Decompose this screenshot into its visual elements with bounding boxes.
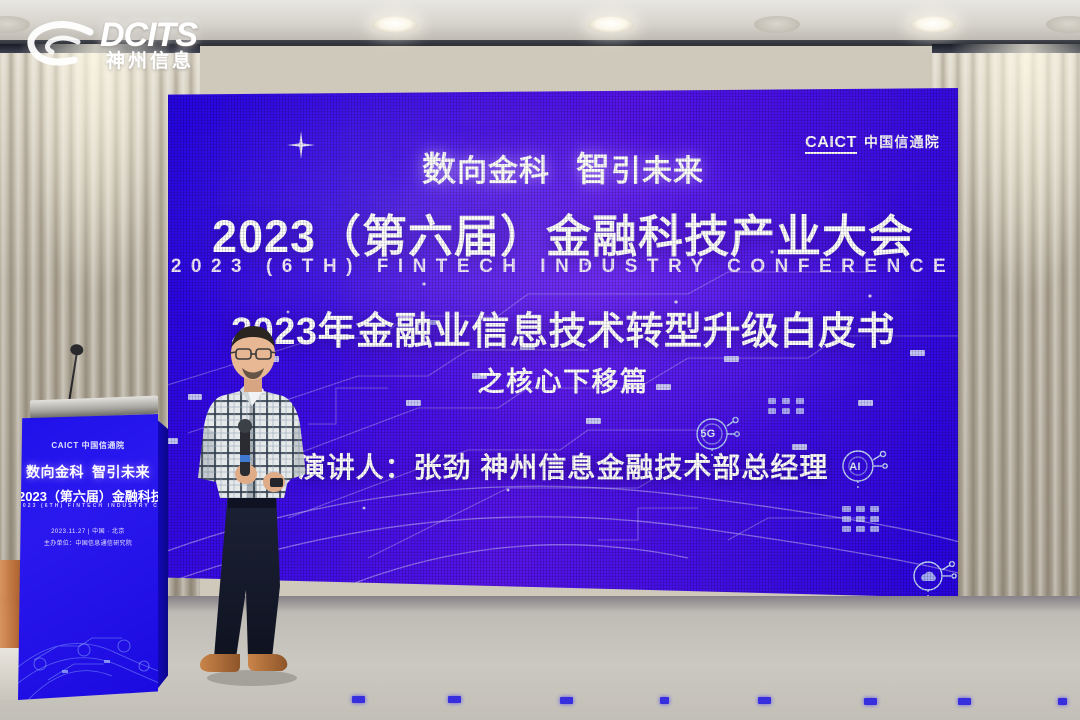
lectern-front-panel: CAICT 中国信通院 数向金科智引未来 2023（第六届）金融科技产业大会 2… xyxy=(18,414,158,700)
tagline-rest-1: 向金科 xyxy=(457,155,550,188)
floor-marker xyxy=(448,696,461,703)
ceiling-downlight xyxy=(372,16,418,33)
lectern-host-line: 主办单位：中国信息通信研究院 xyxy=(18,538,158,547)
floor-marker xyxy=(352,696,365,703)
presenter-trousers xyxy=(214,492,280,658)
floor-marker xyxy=(958,698,971,705)
floor-marker xyxy=(864,698,877,705)
presenter-shoe-left xyxy=(200,654,240,672)
screen-tagline: 数向金科智引未来 xyxy=(168,142,958,191)
floor-marker xyxy=(758,697,771,704)
curtain-rail xyxy=(932,44,1080,53)
presentation-clicker-icon xyxy=(270,478,283,487)
tagline-accent-1: 数 xyxy=(422,151,457,189)
lectern-tagline-accent-1: 数 xyxy=(26,464,41,480)
lectern: CAICT 中国信通院 数向金科智引未来 2023（第六届）金融科技产业大会 2… xyxy=(18,414,170,704)
tagline-rest-2: 引未来 xyxy=(611,155,704,188)
floor-marker xyxy=(560,697,573,704)
curtain-rail xyxy=(0,44,200,53)
handheld-microphone-icon xyxy=(238,419,252,476)
ceiling-downlight xyxy=(910,16,956,33)
cloud-node-icon xyxy=(908,556,958,598)
lectern-tagline-accent-2: 智 xyxy=(92,464,107,480)
lectern-tagline-rest-1: 向金科 xyxy=(41,464,85,480)
presenter-figure xyxy=(188,322,318,690)
lectern-tagline: 数向金科智引未来 xyxy=(18,462,158,482)
conference-title-en: 2023 (6TH) FINTECH INDUSTRY CONFERENCE xyxy=(168,256,958,278)
presenter-shoe-right xyxy=(248,654,287,671)
lectern-circuit-decoration xyxy=(18,414,158,700)
ceiling-downlight xyxy=(754,16,800,33)
lectern-date-line: 2023.11.27 | 中国 · 北京 xyxy=(18,526,158,535)
lectern-tagline-rest-2: 引未来 xyxy=(107,464,151,480)
floor-marker xyxy=(660,697,669,704)
lectern-title-en: 2023 (6TH) FINTECH INDUSTRY CONFERENCE xyxy=(18,503,158,509)
tagline-accent-2: 智 xyxy=(576,151,611,189)
conference-photo-scene: CAICT 中国信通院 数向金科智引未来 2023（第六届）金融科技产业大会 2… xyxy=(0,0,1080,720)
floor-marker xyxy=(1058,698,1067,705)
ceiling-downlight xyxy=(588,16,634,33)
lectern-caict-logo: CAICT 中国信通院 xyxy=(18,440,158,451)
